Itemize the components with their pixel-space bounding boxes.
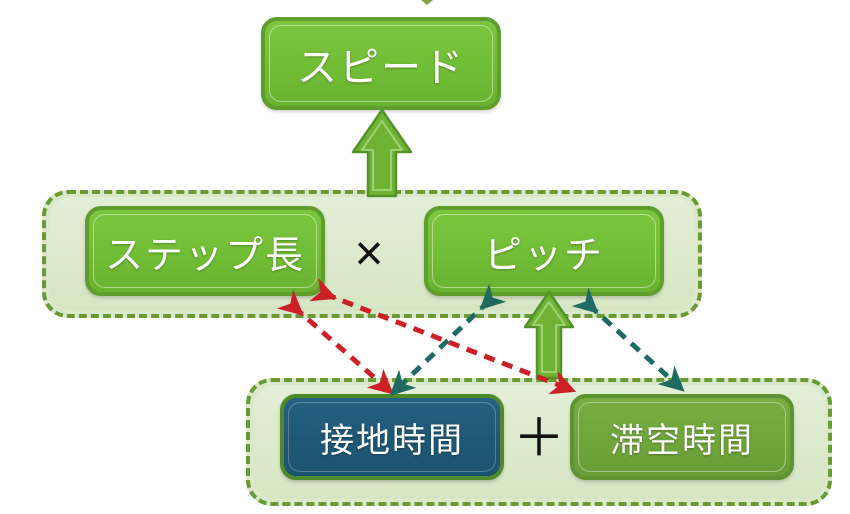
node-step-length[interactable]: ステップ長	[85, 206, 325, 296]
node-speed[interactable]: スピード	[261, 17, 501, 110]
multiply-operator: ×	[347, 228, 391, 278]
node-pitch[interactable]: ピッチ	[424, 206, 664, 296]
node-speed-label: スピード	[297, 35, 465, 93]
node-contact-time[interactable]: 接地時間	[280, 394, 504, 480]
diagram-canvas: スピード ステップ長 ピッチ 接地時間 滞空時間 × ＋	[0, 0, 850, 514]
node-pitch-label: ピッチ	[484, 224, 604, 279]
block-arrow-to-speed	[353, 110, 411, 196]
node-contact-time-label: 接地時間	[320, 413, 464, 462]
red-dashed-arrow-step-length-to-contact-time	[294, 307, 384, 386]
top-edge-artifact	[421, 0, 433, 5]
node-step-length-label: ステップ長	[105, 224, 305, 279]
node-flight-time[interactable]: 滞空時間	[570, 394, 794, 480]
node-flight-time-label: 滞空時間	[610, 413, 754, 462]
plus-operator: ＋	[513, 413, 563, 467]
